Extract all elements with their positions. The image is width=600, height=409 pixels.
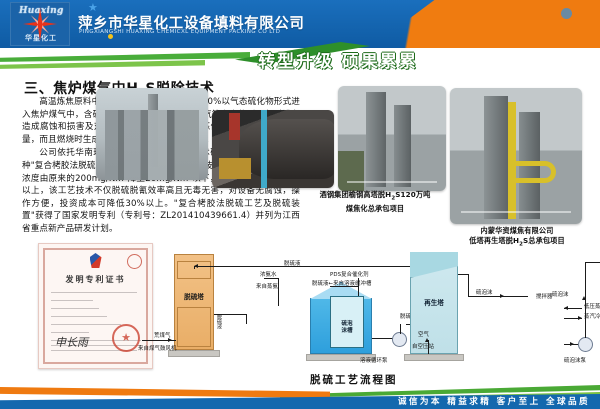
label-desulf-liquid-top: 脱硫液 — [284, 259, 300, 267]
label-lp-steam-1: 低压蒸汽 — [584, 302, 600, 310]
company-logo: Huaxing 华星化工 — [10, 2, 70, 46]
node-regeneration-tower-label: 再生塔 — [411, 297, 457, 307]
process-flow-diagram: 脱硫塔 荒煤气 来自煤气鼓风机 脱硫液 脱硫液 溶液 循环槽 浓氨水 — [160, 252, 590, 372]
photo-caption-left: 酒钢集团榆钢高塔脱H2S120万吨 煤焦化总承包项目 — [300, 190, 450, 214]
photo-caption-right: 内蒙华资煤焦有限公司 低塔再生塔脱H2S总承包项目 — [452, 226, 582, 250]
photo-tower-right — [450, 88, 582, 224]
page-header: Huaxing 华星化工 ★ 萍乡市华星化工设备填料有限公司 PINGXIANG… — [0, 0, 600, 48]
node-circulation-pump — [392, 332, 407, 347]
node-sulfur-foam-tank-label: 硫泡 沫槽 — [331, 321, 363, 335]
label-raw-gas: 荒煤气 — [154, 331, 170, 339]
logo-script-text: Huaxing — [19, 6, 67, 16]
node-absorption-tower-label: 脱硫塔 — [175, 291, 213, 301]
brochure-page: Huaxing 华星化工 ★ 萍乡市华星化工设备填料有限公司 PINGXIANG… — [0, 0, 600, 409]
certificate-title: 发明专利证书 — [39, 274, 152, 285]
regen-tower-base — [404, 354, 464, 361]
node-sulfur-foam-pump — [578, 337, 593, 352]
regen-tower-cone — [410, 252, 458, 278]
banner-slogan: 转型升级 硕果累累 — [258, 47, 418, 72]
label-from-gas-blower: 来自煤气鼓风机 — [138, 344, 176, 352]
label-circulation-pump: 溶液循环泵 — [360, 356, 387, 364]
label-desulf-from-buffer: 脱硫液←来自溶液缓冲槽 — [312, 279, 372, 287]
footer-slogan: 诚信为本 精益求精 客户至上 全球品质 — [398, 395, 590, 407]
label-sulfur-foam-1: 硫泡沫 — [476, 288, 492, 296]
photo-coke-plant — [96, 88, 208, 180]
national-emblem-icon — [87, 253, 105, 269]
label-desulf-liquid-col: 脱硫液 — [216, 314, 223, 329]
caption-left-line1: 酒钢集团榆钢高塔脱H2S120万吨 — [320, 190, 431, 199]
page-footer: 诚信为本 精益求精 客户至上 全球品质 — [0, 385, 600, 409]
caption-left-line2: 煤焦化总承包项目 — [346, 204, 404, 213]
label-sulfur-foam-2: 硫泡沫 — [552, 290, 568, 298]
footer-orange-stripe — [0, 387, 330, 398]
label-agitator: 搅拌器 — [536, 292, 552, 300]
label-sulfur-foam-pump: 硫泡沫泵 — [564, 356, 586, 364]
label-from-air-station: 自空压站 — [412, 342, 434, 350]
certificate-signature: 申长雨 — [55, 334, 88, 350]
label-ammonia-water: 浓氨水 — [260, 270, 276, 278]
caption-right-line1: 内蒙华资煤焦有限公司 — [481, 226, 554, 235]
blue-circle-icon — [561, 8, 572, 19]
company-name-en: PINGXIANGSHI HUAXING CHEMICXL EQUIPMENT … — [79, 29, 280, 35]
label-steam-condensate-1: 蒸汽冷凝液 — [584, 312, 600, 320]
photo-tower-left — [338, 86, 446, 191]
red-official-seal-icon — [112, 324, 140, 352]
node-sulfur-foam-tank: 硫泡 沫槽 — [330, 296, 364, 348]
header-orange-bar — [450, 0, 600, 20]
label-air: 空气 — [418, 330, 429, 338]
caption-right-line2: 低塔再生塔脱H2S总承包项目 — [469, 236, 565, 245]
label-from-ammonia-still: 来自蒸氨 — [256, 282, 278, 290]
label-pds-catalyst: PDS复合催化剂 — [330, 270, 369, 278]
patent-certificate: 发明专利证书 申长雨 — [38, 243, 153, 369]
photo-pipe-equipment — [212, 110, 334, 188]
seal-circle-icon — [127, 254, 142, 269]
node-regeneration-tower: 再生塔 — [410, 252, 458, 354]
swoosh-stripe-dark — [0, 52, 250, 62]
